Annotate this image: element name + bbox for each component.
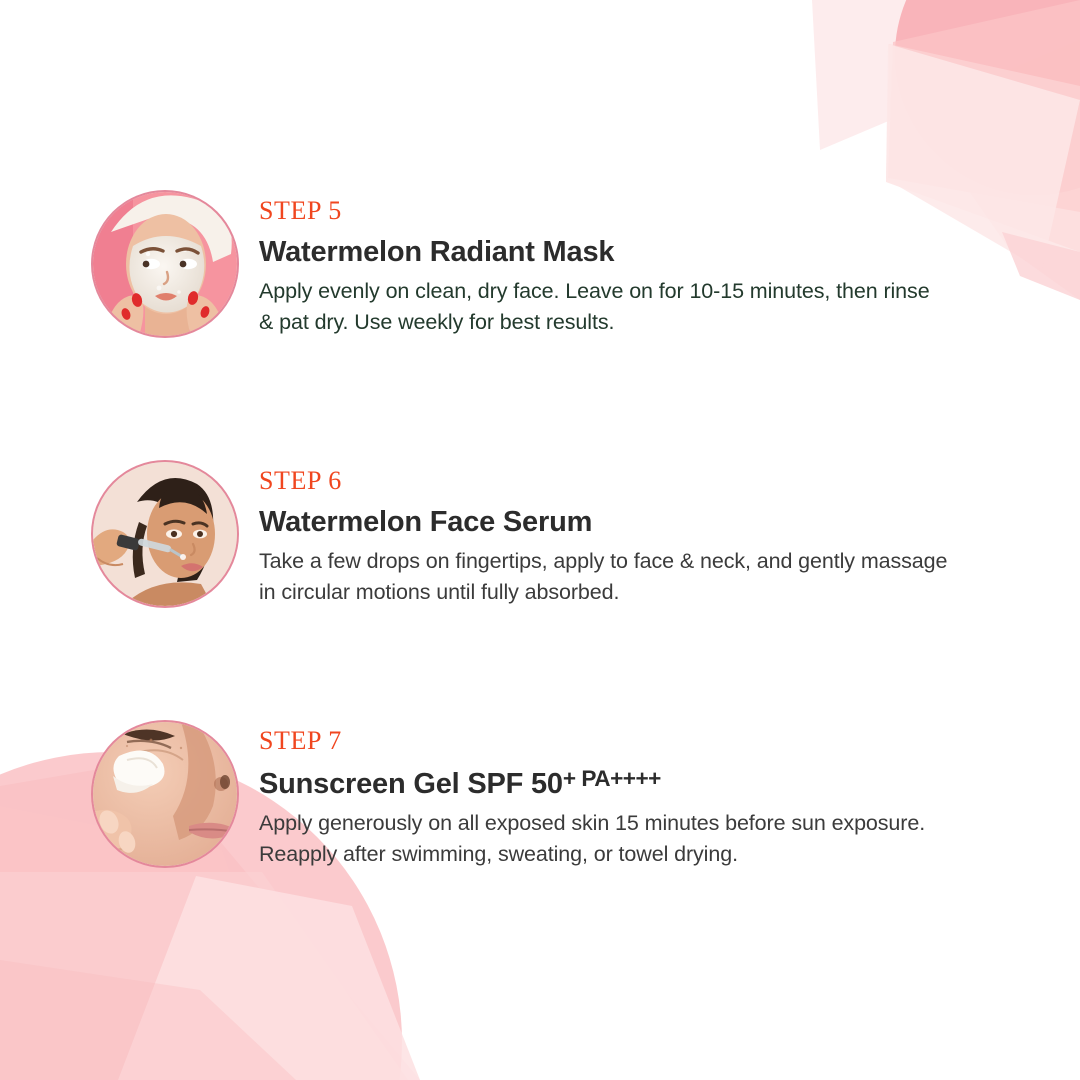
step-photo-woman-with-white-clay-face-mask — [93, 192, 237, 336]
step-description: Take a few drops on fingertips, apply to… — [259, 546, 949, 607]
step-description: Apply generously on all exposed skin 15 … — [259, 808, 949, 869]
routine-steps-list: STEP 5 Watermelon Radiant Mask Apply eve… — [0, 0, 1080, 1080]
step-title-main: Watermelon Face Serum — [259, 506, 592, 538]
step-item: STEP 5 Watermelon Radiant Mask Apply eve… — [93, 192, 959, 337]
step-title-main: Sunscreen Gel SPF 50 — [259, 768, 563, 800]
step-text-block: STEP 5 Watermelon Radiant Mask Apply eve… — [259, 192, 959, 337]
step-photo-closeup-cheek-with-sunscreen-swatch — [93, 722, 237, 866]
step-title-suffix: + PA++++ — [563, 766, 661, 791]
step-label: STEP 7 — [259, 728, 959, 754]
step-text-block: STEP 7 Sunscreen Gel SPF 50+ PA++++ Appl… — [259, 722, 959, 869]
step-photo-woman-applying-serum-with-dropper — [93, 462, 237, 606]
step-title: Watermelon Face Serum — [259, 507, 959, 537]
step-description: Apply evenly on clean, dry face. Leave o… — [259, 276, 949, 337]
step-label: STEP 6 — [259, 468, 959, 494]
step-text-block: STEP 6 Watermelon Face Serum Take a few … — [259, 462, 959, 607]
step-title-main: Watermelon Radiant Mask — [259, 236, 614, 268]
step-item: STEP 6 Watermelon Face Serum Take a few … — [93, 462, 959, 607]
step-item: STEP 7 Sunscreen Gel SPF 50+ PA++++ Appl… — [93, 722, 959, 869]
step-label: STEP 5 — [259, 198, 959, 224]
step-title: Sunscreen Gel SPF 50+ PA++++ — [259, 767, 959, 799]
step-title: Watermelon Radiant Mask — [259, 237, 959, 267]
